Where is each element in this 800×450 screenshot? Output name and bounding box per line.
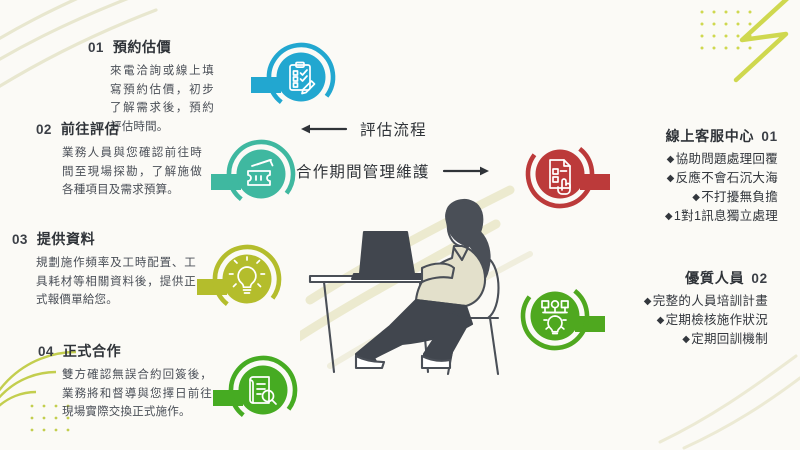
process-step-04: 04 正式合作 雙方確認無誤合約回簽後，業務將和督導與您擇日前往現場實際交換正式… bbox=[38, 341, 223, 422]
step-header: 04 正式合作 bbox=[38, 341, 223, 361]
list-item-label: 完整的人員培訓計畫 bbox=[653, 294, 768, 308]
service-title: 線上客服中心 bbox=[666, 128, 755, 144]
step-header: 01 預約估價 bbox=[88, 37, 210, 57]
list-item: ◆協助問題處理回覆 bbox=[665, 150, 778, 169]
infographic-canvas: 01 預約估價 來電洽詢或線上填寫預約估價，初步了解需求後，預約評估時間。 02… bbox=[0, 0, 800, 450]
step-description: 業務人員與您確認前往時間至現場探勘，了解施做各種項目及需求預算。 bbox=[62, 144, 202, 200]
right-arrow-icon bbox=[442, 164, 490, 178]
list-item: ◆反應不會石沉大海 bbox=[665, 169, 778, 188]
flow-label-maintenance: 合作期間管理維護 bbox=[296, 160, 490, 182]
diamond-bullet-icon: ◆ bbox=[644, 296, 652, 307]
list-item: ◆定期回訓機制 bbox=[644, 330, 768, 349]
woman-working-on-laptop-illustration bbox=[302, 196, 527, 381]
service-number: 02 bbox=[751, 271, 768, 286]
service-block-02: 優質人員02 ◆完整的人員培訓計畫 ◆定期檢核施作狀況 ◆定期回訓機制 bbox=[644, 268, 768, 349]
diamond-bullet-icon: ◆ bbox=[682, 334, 690, 345]
diamond-bullet-icon: ◆ bbox=[692, 192, 700, 203]
list-item-label: 定期回訓機制 bbox=[691, 332, 768, 346]
list-item-label: 不打擾無負擔 bbox=[701, 190, 778, 204]
flow-label-text: 評估流程 bbox=[360, 118, 427, 140]
list-item-label: 1對1訊息獨立處理 bbox=[674, 209, 778, 223]
list-item: ◆1對1訊息獨立處理 bbox=[665, 207, 778, 226]
list-item-label: 協助問題處理回覆 bbox=[676, 152, 778, 166]
step-header: 02 前往評估 bbox=[36, 119, 211, 139]
process-step-02: 02 前往評估 業務人員與您確認前往時間至現場探勘，了解施做各種項目及需求預算。 bbox=[36, 119, 211, 200]
process-step-03: 03 提供資料 規劃施作頻率及工時配置、工具耗材等相關資料後，提供正式報價單給您… bbox=[12, 229, 202, 310]
step-title: 預約估價 bbox=[113, 37, 171, 57]
list-item: ◆定期檢核施作狀況 bbox=[644, 311, 768, 330]
service-block-01: 線上客服中心01 ◆協助問題處理回覆 ◆反應不會石沉大海 ◆不打擾無負擔 ◆1對… bbox=[665, 126, 778, 226]
flow-label-text: 合作期間管理維護 bbox=[296, 160, 430, 182]
step-description: 規劃施作頻率及工時配置、工具耗材等相關資料後，提供正式報價單給您。 bbox=[36, 254, 196, 310]
step-04-icon-badge[interactable] bbox=[213, 344, 305, 436]
step-title: 前往評估 bbox=[61, 119, 119, 139]
step-title: 提供資料 bbox=[37, 229, 95, 249]
step-header: 03 提供資料 bbox=[12, 229, 202, 249]
step-number: 03 bbox=[12, 232, 28, 247]
list-item: ◆不打擾無負擔 bbox=[665, 188, 778, 207]
flow-label-evaluation: 評估流程 bbox=[300, 118, 427, 140]
service-number: 01 bbox=[761, 129, 778, 144]
service-highlights-column: 線上客服中心01 ◆協助問題處理回覆 ◆反應不會石沉大海 ◆不打擾無負擔 ◆1對… bbox=[500, 0, 800, 450]
list-item: ◆完整的人員培訓計畫 bbox=[644, 292, 768, 311]
service-bullet-list: ◆完整的人員培訓計畫 ◆定期檢核施作狀況 ◆定期回訓機制 bbox=[644, 292, 768, 349]
diamond-bullet-icon: ◆ bbox=[665, 211, 673, 222]
step-number: 02 bbox=[36, 122, 52, 137]
step-01-icon-badge[interactable] bbox=[251, 31, 343, 123]
service-header: 線上客服中心01 bbox=[665, 126, 778, 146]
step-03-icon-badge[interactable] bbox=[197, 233, 289, 325]
diamond-bullet-icon: ◆ bbox=[667, 154, 675, 165]
left-arrow-icon bbox=[300, 122, 348, 136]
list-item-label: 定期檢核施作狀況 bbox=[666, 313, 768, 327]
diamond-bullet-icon: ◆ bbox=[657, 315, 665, 326]
service-title: 優質人員 bbox=[685, 270, 744, 286]
list-item-label: 反應不會石沉大海 bbox=[676, 171, 778, 185]
step-description: 雙方確認無誤合約回簽後，業務將和督導與您擇日前往現場實際交換正式施作。 bbox=[62, 366, 212, 422]
diamond-bullet-icon: ◆ bbox=[667, 173, 675, 184]
step-number: 01 bbox=[88, 40, 104, 55]
service-header: 優質人員02 bbox=[644, 268, 768, 288]
step-number: 04 bbox=[38, 344, 54, 359]
step-02-icon-badge[interactable] bbox=[211, 128, 303, 220]
service-bullet-list: ◆協助問題處理回覆 ◆反應不會石沉大海 ◆不打擾無負擔 ◆1對1訊息獨立處理 bbox=[665, 150, 778, 226]
step-title: 正式合作 bbox=[63, 341, 121, 361]
